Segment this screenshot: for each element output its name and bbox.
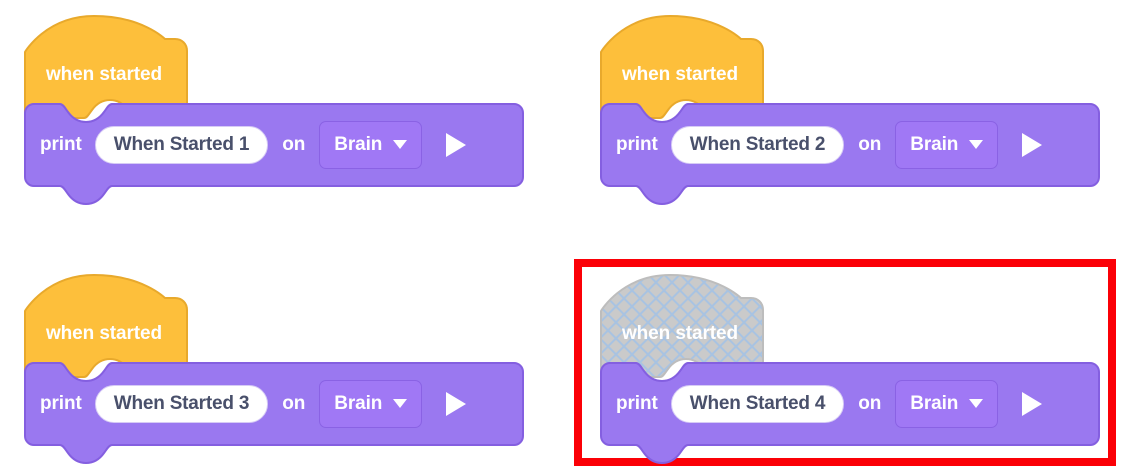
print-text-value-1: When Started 1 xyxy=(114,135,250,154)
print-text-input-3[interactable]: When Started 3 xyxy=(95,385,269,423)
device-dropdown-4[interactable]: Brain xyxy=(895,380,998,428)
hat-block-label-2: when started xyxy=(622,65,738,84)
chevron-down-icon xyxy=(969,399,983,408)
print-text-value-4: When Started 4 xyxy=(690,394,826,413)
block-workspace-canvas: when started print When Started 1 on Bra… xyxy=(0,0,1126,470)
hat-block-label-4: when started xyxy=(622,324,738,343)
hat-block-label-3: when started xyxy=(46,324,162,343)
script-block-group-1[interactable]: when started print When Started 1 on Bra… xyxy=(24,14,534,204)
device-dropdown-2[interactable]: Brain xyxy=(895,121,998,169)
on-keyword-label-3: on xyxy=(282,394,305,413)
print-text-input-2[interactable]: When Started 2 xyxy=(671,126,845,164)
print-stack-block-4[interactable]: print When Started 4 on Brain xyxy=(600,361,1110,455)
chevron-down-icon xyxy=(969,140,983,149)
print-text-value-3: When Started 3 xyxy=(114,394,250,413)
print-stack-block-3[interactable]: print When Started 3 on Brain xyxy=(24,361,534,455)
device-dropdown-value-2: Brain xyxy=(910,135,958,154)
script-block-group-2[interactable]: when started print When Started 2 on Bra… xyxy=(600,14,1110,204)
on-keyword-label-2: on xyxy=(858,135,881,154)
script-block-group-4[interactable]: when started print When Started 4 on Bra… xyxy=(600,273,1110,463)
print-text-value-2: When Started 2 xyxy=(690,135,826,154)
print-text-input-1[interactable]: When Started 1 xyxy=(95,126,269,164)
on-keyword-label-1: on xyxy=(282,135,305,154)
print-stack-block-2[interactable]: print When Started 2 on Brain xyxy=(600,102,1110,196)
chevron-down-icon xyxy=(393,399,407,408)
device-dropdown-1[interactable]: Brain xyxy=(319,121,422,169)
on-keyword-label-4: on xyxy=(858,394,881,413)
play-triangle-icon[interactable] xyxy=(1022,392,1042,416)
script-block-group-3[interactable]: when started print When Started 3 on Bra… xyxy=(24,273,534,463)
print-text-input-4[interactable]: When Started 4 xyxy=(671,385,845,423)
device-dropdown-3[interactable]: Brain xyxy=(319,380,422,428)
print-keyword-label-3: print xyxy=(40,394,82,413)
play-triangle-icon[interactable] xyxy=(446,392,466,416)
play-triangle-icon[interactable] xyxy=(1022,133,1042,157)
chevron-down-icon xyxy=(393,140,407,149)
hat-block-label-1: when started xyxy=(46,65,162,84)
print-keyword-label-2: print xyxy=(616,135,658,154)
device-dropdown-value-4: Brain xyxy=(910,394,958,413)
print-keyword-label-1: print xyxy=(40,135,82,154)
print-stack-block-1[interactable]: print When Started 1 on Brain xyxy=(24,102,534,196)
device-dropdown-value-1: Brain xyxy=(334,135,382,154)
play-triangle-icon[interactable] xyxy=(446,133,466,157)
device-dropdown-value-3: Brain xyxy=(334,394,382,413)
print-keyword-label-4: print xyxy=(616,394,658,413)
